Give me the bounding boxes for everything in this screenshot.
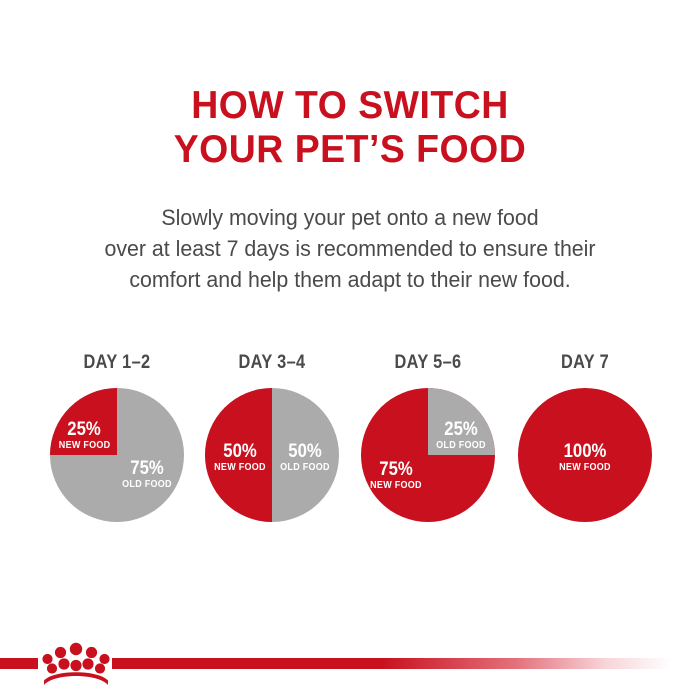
day-label-3: DAY 5–6: [364, 352, 493, 374]
pie-group-day-5-6: DAY 5–6 25% OLD FOOD 75% NEW FOOD: [353, 352, 503, 522]
title-line-1: HOW TO SWITCH: [14, 84, 686, 128]
pie-chart-day-7: 100% NEW FOOD: [518, 388, 652, 522]
royal-canin-crown-icon: [40, 640, 112, 688]
page-subtitle: Slowly moving your pet onto a new food o…: [20, 202, 680, 295]
pie-group-day-1-2: DAY 1–2 25% NEW FOOD 75% OLD FOOD: [42, 352, 192, 522]
footer-brand-bar: [0, 630, 700, 700]
pie-chart-row: DAY 1–2 25% NEW FOOD 75% OLD FOOD DAY 3–…: [0, 352, 700, 532]
pie-chart-day-1-2: 25% NEW FOOD 75% OLD FOOD: [50, 388, 184, 522]
infographic-page: HOW TO SWITCH YOUR PET’S FOOD Slowly mov…: [0, 0, 700, 700]
pie-slice-new-food: [50, 388, 117, 455]
footer-bar-right: [112, 658, 672, 669]
subtitle-line-3: comfort and help them adapt to their new…: [30, 264, 670, 295]
pie-slice-new-food: [518, 388, 652, 522]
pie-svg-day-3-4: [205, 388, 339, 522]
day-label-1: DAY 1–2: [53, 352, 182, 374]
pie-svg-day-5-6: [361, 388, 495, 522]
pie-svg-day-7: [518, 388, 652, 522]
pie-chart-day-3-4: 50% NEW FOOD 50% OLD FOOD: [205, 388, 339, 522]
pie-slice-new-food: [205, 388, 272, 522]
subtitle-line-2: over at least 7 days is recommended to e…: [30, 233, 670, 264]
pie-group-day-3-4: DAY 3–4 50% NEW FOOD 50% OLD FOOD: [197, 352, 347, 522]
day-label-4: DAY 7: [521, 352, 650, 374]
day-label-2: DAY 3–4: [208, 352, 337, 374]
pie-slice-old-food: [428, 388, 495, 455]
pie-group-day-7: DAY 7 100% NEW FOOD: [510, 352, 660, 522]
pie-svg-day-1-2: [50, 388, 184, 522]
footer-bar-left: [0, 658, 38, 669]
title-line-2: YOUR PET’S FOOD: [14, 128, 686, 172]
subtitle-line-1: Slowly moving your pet onto a new food: [30, 202, 670, 233]
pie-chart-day-5-6: 25% OLD FOOD 75% NEW FOOD: [361, 388, 495, 522]
page-title: HOW TO SWITCH YOUR PET’S FOOD: [0, 84, 700, 172]
